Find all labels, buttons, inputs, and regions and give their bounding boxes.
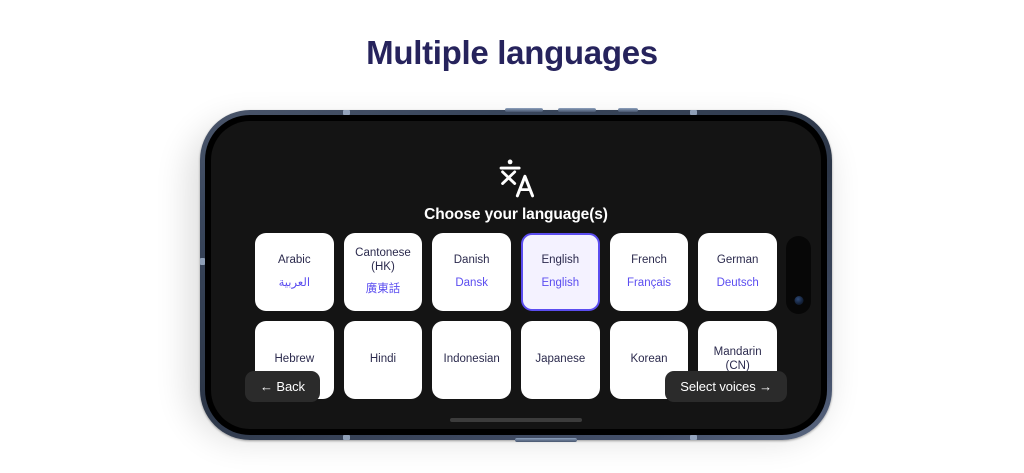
language-name-english: Hebrew <box>275 353 315 367</box>
language-name-native: العربية <box>279 277 310 291</box>
language-tile[interactable]: GermanDeutsch <box>698 233 777 311</box>
language-name-native: Deutsch <box>717 277 759 291</box>
power-button[interactable] <box>515 438 577 442</box>
language-tile[interactable]: EnglishEnglish <box>521 233 600 311</box>
language-tile[interactable]: Arabicالعربية <box>255 233 334 311</box>
language-name-english: Cantonese (HK) <box>349 247 418 274</box>
phone-device-frame: Choose your language(s) ArabicالعربيةCan… <box>200 110 832 440</box>
language-name-english: German <box>717 254 759 268</box>
language-name-native: English <box>541 277 579 291</box>
antenna-band <box>690 435 697 440</box>
language-tile[interactable]: FrenchFrançais <box>610 233 689 311</box>
language-name-native: Dansk <box>455 277 488 291</box>
phone-screen: Choose your language(s) ArabicالعربيةCan… <box>211 121 821 429</box>
language-name-english: French <box>631 254 667 268</box>
language-tile[interactable]: Japanese <box>521 321 600 399</box>
action-switch[interactable] <box>618 108 638 112</box>
back-button[interactable]: ← Back <box>245 371 320 402</box>
language-name-native: 廣東話 <box>366 283 401 297</box>
home-indicator[interactable] <box>450 418 582 422</box>
page-root: Multiple languages <box>0 0 1024 473</box>
language-name-english: Korean <box>630 353 667 367</box>
language-tile[interactable]: Cantonese (HK)廣東話 <box>344 233 423 311</box>
language-name-english: Arabic <box>278 254 311 268</box>
volume-up-button[interactable] <box>505 108 543 112</box>
language-name-english: Mandarin (CN) <box>703 346 772 373</box>
page-title: Multiple languages <box>0 34 1024 72</box>
select-voices-button[interactable]: Select voices → <box>665 371 787 402</box>
volume-down-button[interactable] <box>558 108 596 112</box>
language-name-native: Français <box>627 277 671 291</box>
language-tile[interactable]: Hindi <box>344 321 423 399</box>
language-name-english: Danish <box>454 254 490 268</box>
language-tile[interactable]: DanishDansk <box>432 233 511 311</box>
choose-language-heading: Choose your language(s) <box>424 206 608 224</box>
translate-icon <box>494 159 538 199</box>
language-name-english: Hindi <box>370 353 396 367</box>
language-name-english: Indonesian <box>444 353 500 367</box>
language-name-english: English <box>541 254 579 268</box>
language-tile[interactable]: Indonesian <box>432 321 511 399</box>
phone-bezel: Choose your language(s) ArabicالعربيةCan… <box>205 115 827 435</box>
language-name-english: Japanese <box>535 353 585 367</box>
antenna-band <box>343 435 350 440</box>
